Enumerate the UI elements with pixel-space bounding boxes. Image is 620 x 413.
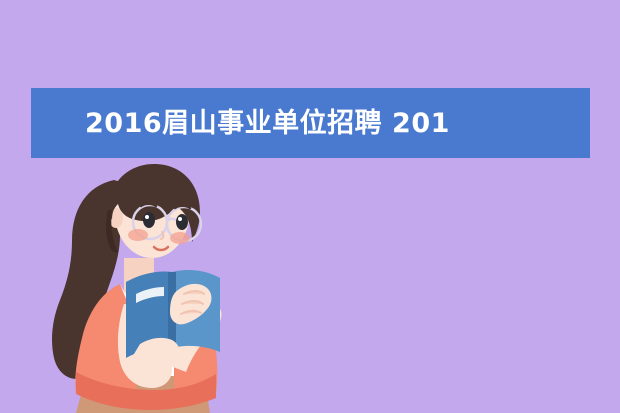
left-blush bbox=[128, 229, 148, 241]
woman-reading-icon bbox=[28, 162, 238, 413]
right-eye bbox=[176, 214, 188, 230]
left-eye bbox=[143, 212, 155, 228]
right-eye-highlight bbox=[178, 217, 182, 221]
page-root: 2016眉山事业单位招聘 201 bbox=[0, 0, 620, 413]
right-blush bbox=[170, 232, 190, 244]
woman-reading-illustration bbox=[28, 162, 238, 413]
left-eye-highlight bbox=[145, 215, 149, 219]
title-banner: 2016眉山事业单位招聘 201 bbox=[31, 88, 590, 158]
banner-title-text: 2016眉山事业单位招聘 201 bbox=[31, 110, 450, 137]
